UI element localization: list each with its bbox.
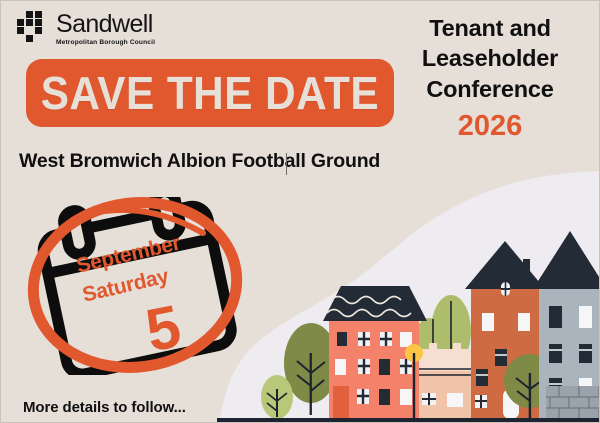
logo-subtitle: Metropolitan Borough Council: [56, 40, 155, 47]
window-dark-b: [476, 369, 488, 386]
window-dark-a: [495, 349, 507, 366]
conference-line-3: Conference: [395, 74, 585, 104]
brick-wall: [546, 386, 600, 419]
save-the-date-banner: SAVE THE DATE: [26, 59, 394, 127]
ground-line: [217, 418, 600, 423]
logo-wordmark: Sandwell: [56, 12, 155, 37]
save-the-date-text: SAVE THE DATE: [41, 66, 379, 120]
more-details-text: More details to follow...: [23, 399, 186, 416]
small-tree: [261, 375, 293, 419]
calendar-graphic: September Saturday 5: [23, 197, 253, 375]
text-cursor: [286, 153, 287, 175]
save-the-date-poster: Sandwell Metropolitan Borough Council SA…: [0, 0, 600, 423]
conference-heading: Tenant and Leaseholder Conference 2026: [395, 13, 585, 144]
venue-text: West Bromwich Albion Football Ground: [19, 150, 380, 173]
conference-line-1: Tenant and: [395, 13, 585, 43]
sandwell-checker-logo-icon: [17, 11, 49, 43]
conference-year: 2026: [395, 109, 585, 144]
sandwell-logo: Sandwell Metropolitan Borough Council: [17, 11, 155, 47]
conference-line-2: Leaseholder: [395, 43, 585, 73]
